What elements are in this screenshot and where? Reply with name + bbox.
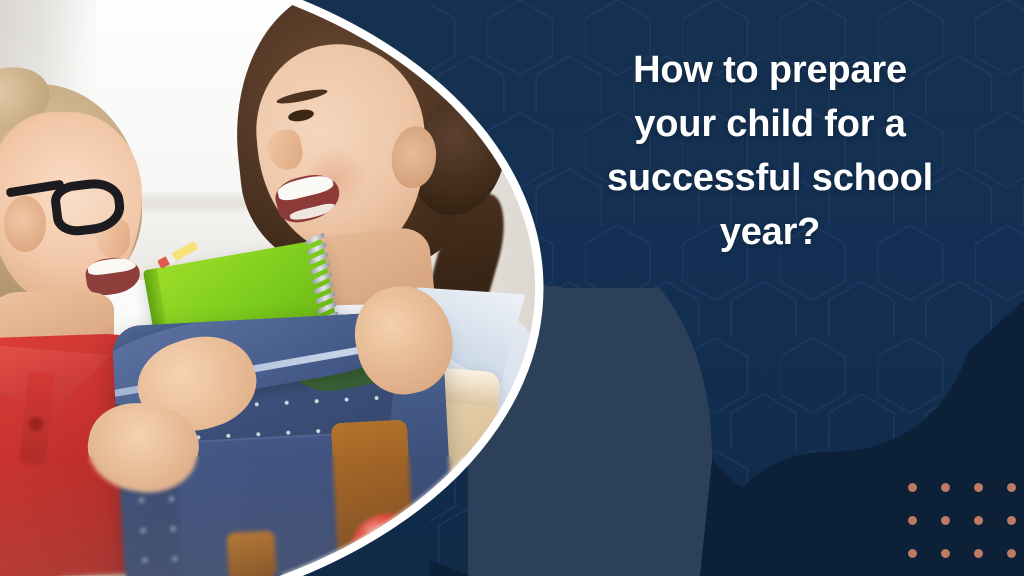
headline-line-2: your child for a (634, 103, 905, 145)
dot-grid-row (908, 516, 1016, 525)
headline-line-4: year? (720, 211, 820, 253)
headline-line-3: successful school (607, 157, 933, 199)
dot (974, 549, 983, 558)
page-title: How to prepare your child for a successf… (560, 44, 980, 260)
dot (941, 483, 950, 492)
dot (908, 483, 917, 492)
backpack-leather-tab (226, 531, 276, 576)
dot-grid-row (908, 549, 1016, 558)
dot (1007, 516, 1016, 525)
dot (974, 516, 983, 525)
dot (1007, 483, 1016, 492)
blog-banner: How to prepare your child for a successf… (0, 0, 1024, 576)
headline-line-1: How to prepare (633, 49, 907, 91)
dot (908, 549, 917, 558)
dot (941, 516, 950, 525)
dot (974, 483, 983, 492)
girl-ear (4, 196, 46, 252)
girl-polo-button (30, 418, 42, 430)
dot-grid-row (908, 483, 1016, 492)
dot (908, 516, 917, 525)
dot (941, 549, 950, 558)
decorative-dot-grid (908, 483, 1016, 558)
hero-photo (0, 0, 560, 576)
dot (1007, 549, 1016, 558)
